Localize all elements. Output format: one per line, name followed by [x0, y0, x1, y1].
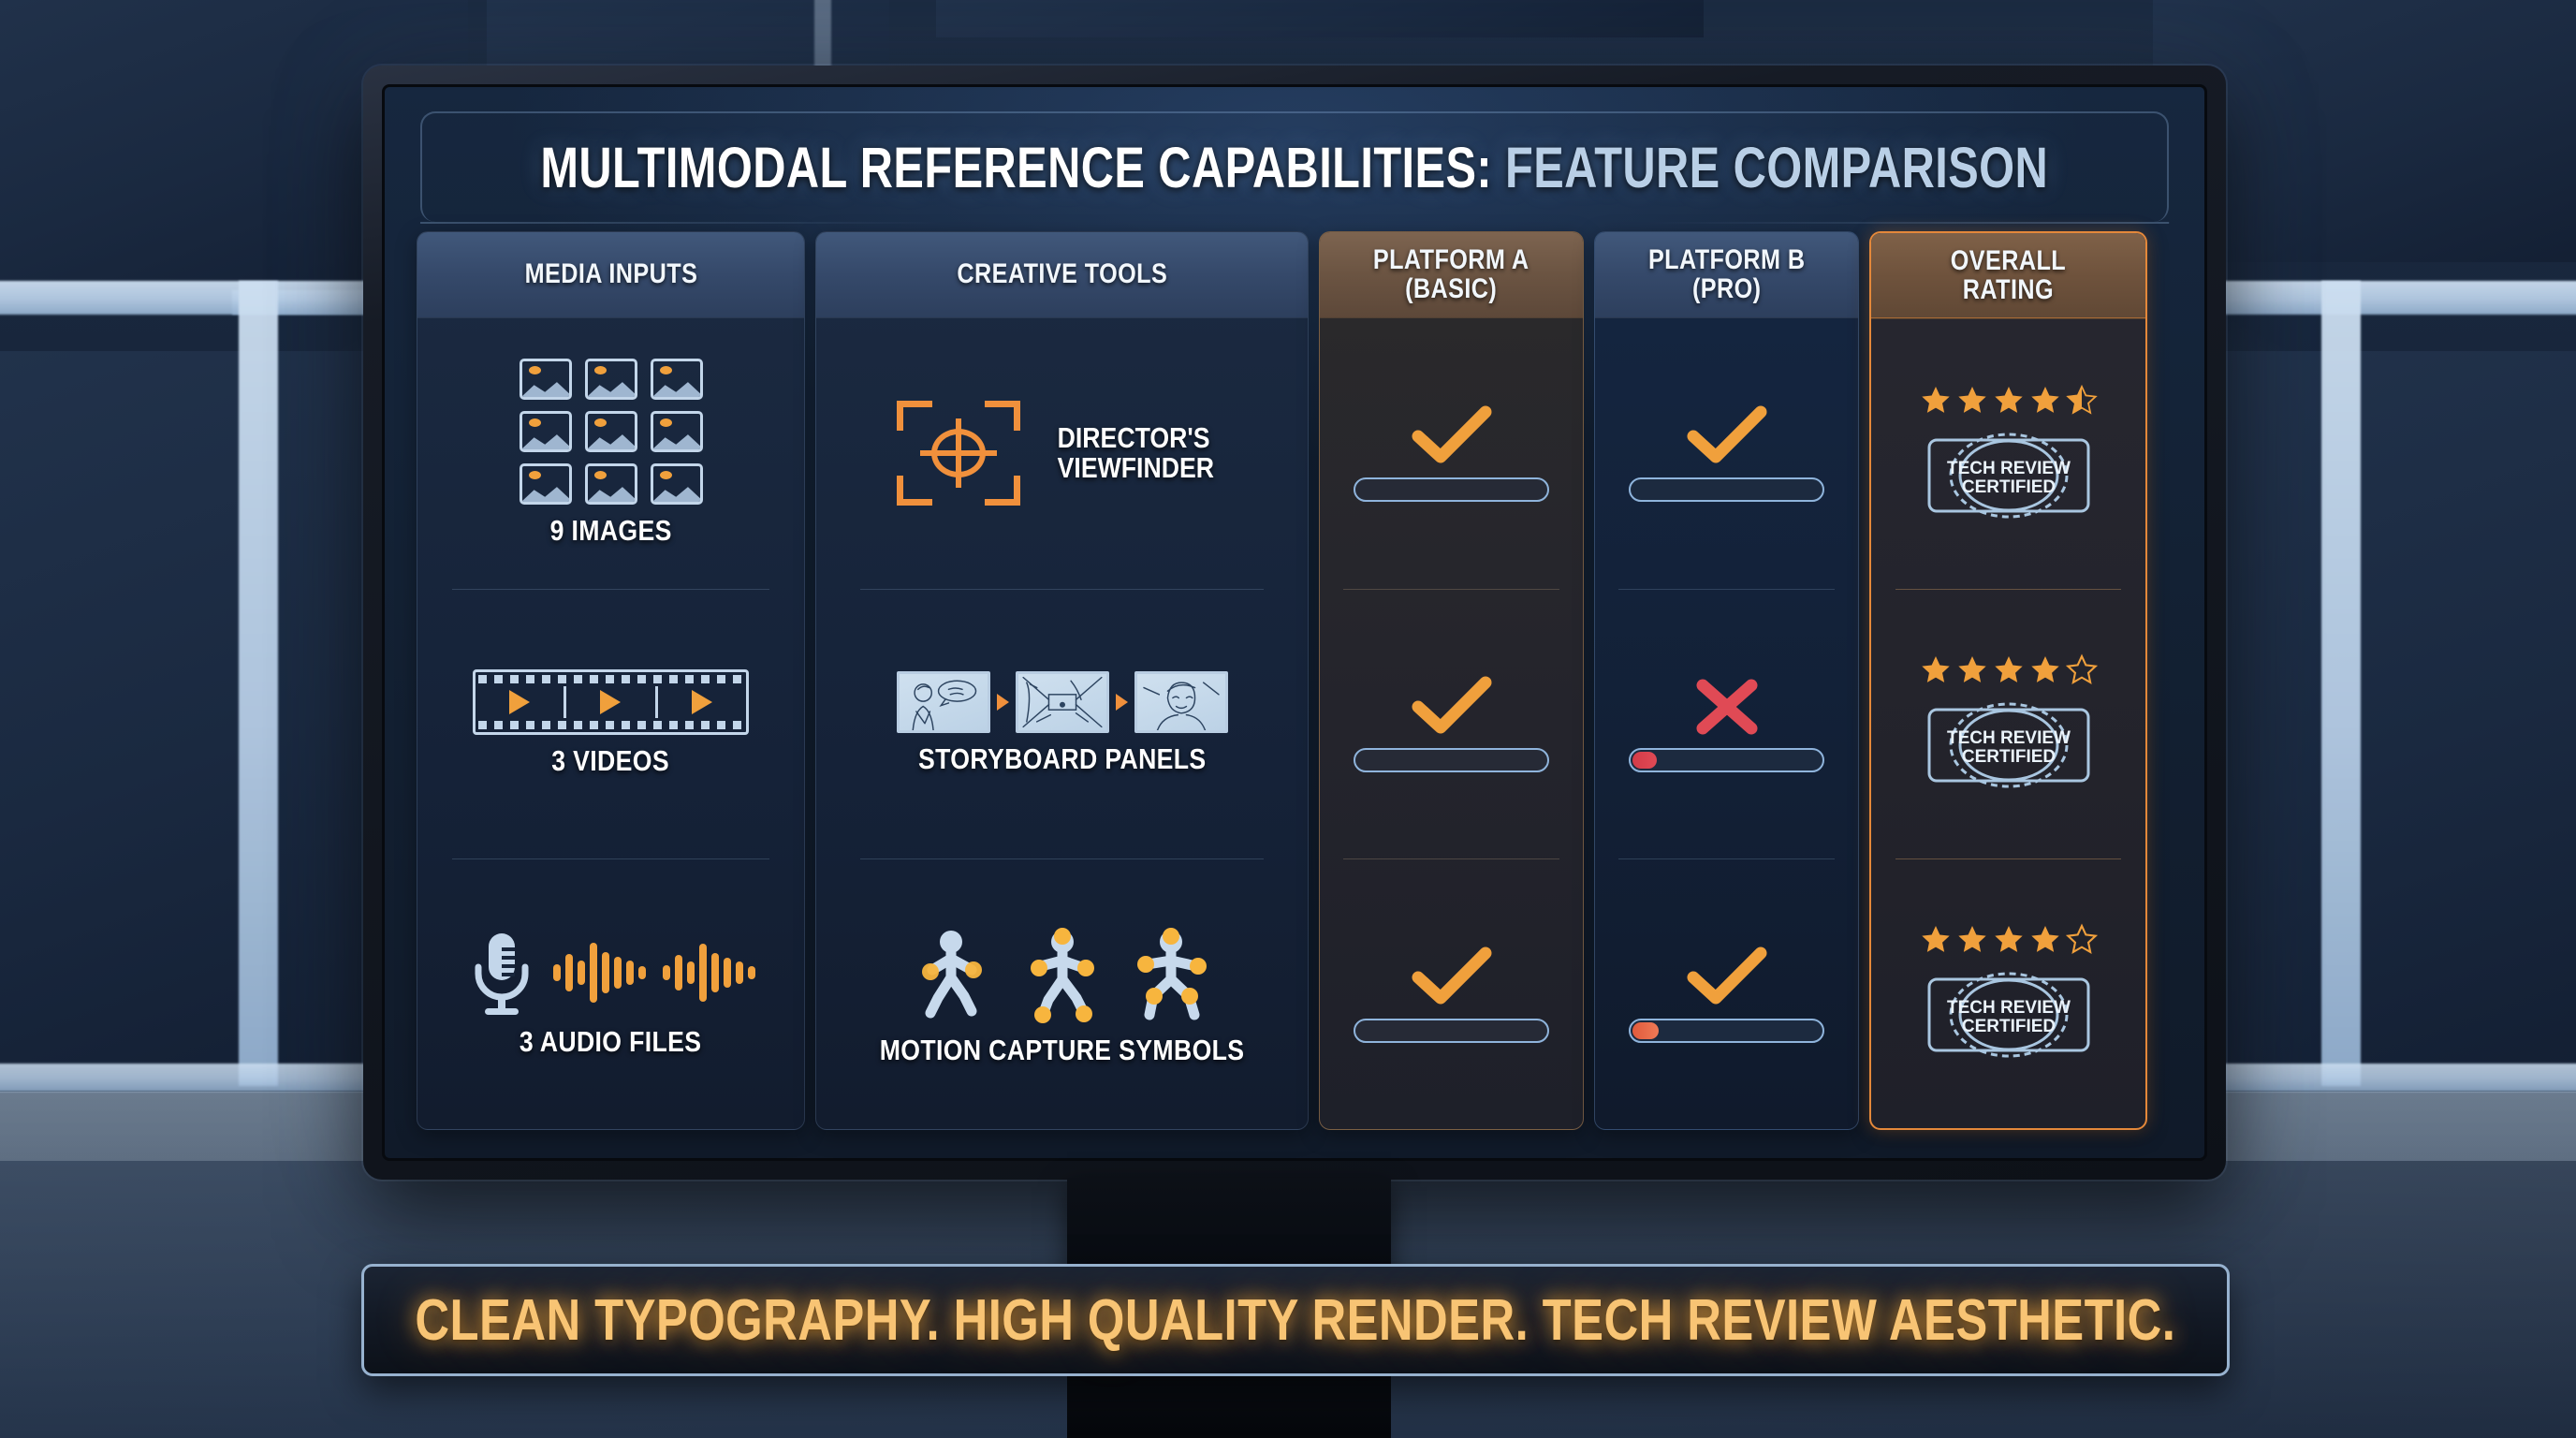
column-header-label: CREATIVE TOOLS [957, 260, 1167, 289]
progress-bar [1629, 748, 1824, 772]
column-body-overall-rating: TECH REVIEW CERTIFIED [1871, 319, 2145, 1128]
badge-line2: CERTIFIED [1961, 747, 2055, 767]
wall-seam-horizontal-rb [2181, 1064, 2576, 1092]
storyboard-panel-3 [1134, 671, 1228, 733]
cell-images: 9 IMAGES [417, 318, 804, 589]
column-media-inputs: MEDIA INPUTS [417, 231, 805, 1130]
column-header-label: MEDIA INPUTS [524, 260, 697, 289]
check-icon [1409, 946, 1495, 1009]
storyboard-panel-1 [897, 671, 990, 733]
cell-videos: 3 VIDEOS [417, 589, 804, 859]
page-title: MULTIMODAL REFERENCE CAPABILITIES: FEATU… [541, 135, 2049, 200]
check-icon [1409, 404, 1495, 468]
progress-fill [1357, 752, 1499, 769]
column-header-overall-rating: OVERALL RATING [1871, 233, 2145, 319]
media-row-label: 3 VIDEOS [552, 744, 670, 778]
star-icon-full [2028, 653, 2062, 687]
cell-motion-capture: MOTION CAPTURE SYMBOLS [816, 858, 1308, 1129]
tagline-banner: CLEAN TYPOGRAPHY. HIGH QUALITY RENDER. T… [361, 1264, 2230, 1376]
tool-row-label: MOTION CAPTURE SYMBOLS [880, 1034, 1245, 1067]
column-header-label: PLATFORM B (PRO) [1648, 246, 1806, 303]
star-icon-full [1955, 653, 1989, 687]
star-icon-full [1992, 384, 2026, 418]
media-row-label: 9 IMAGES [549, 514, 671, 548]
star-icon-full [1992, 653, 2026, 687]
badge-line2: CERTIFIED [1961, 1017, 2055, 1036]
wall-seam-vertical-rmid [2321, 281, 2361, 1086]
waveform-icon-1 [553, 939, 646, 1006]
progress-bar [1354, 477, 1549, 502]
star-icon-full [1992, 923, 2026, 957]
image-grid-icon [520, 359, 703, 505]
badge-line1: TECH REVIEW [1947, 459, 2071, 478]
column-platform-a: PLATFORM A (BASIC) [1319, 231, 1584, 1130]
progress-bar [1629, 1019, 1824, 1043]
mocap-figure-3 [1120, 921, 1222, 1024]
cell-platform-a-2 [1320, 589, 1583, 859]
star-icon-empty [2065, 923, 2099, 957]
column-header-platform-b: PLATFORM B (PRO) [1595, 232, 1858, 318]
cell-platform-a-1 [1320, 318, 1583, 589]
mocap-figure-2 [1011, 921, 1114, 1024]
check-icon [1409, 675, 1495, 739]
viewfinder-icon [897, 401, 1020, 506]
cell-audio: 3 AUDIO FILES [417, 858, 804, 1129]
studio-scene: MULTIMODAL REFERENCE CAPABILITIES: FEATU… [0, 0, 2576, 1438]
monitor-screen: MULTIMODAL REFERENCE CAPABILITIES: FEATU… [382, 84, 2207, 1161]
star-rating [1919, 384, 2099, 418]
motion-capture-icon [902, 921, 1222, 1024]
badge-line2: CERTIFIED [1961, 477, 2055, 497]
mocap-figure-1 [902, 921, 1005, 1024]
cell-rating-1: TECH REVIEW CERTIFIED [1871, 319, 2145, 589]
star-rating [1919, 653, 2099, 687]
cell-rating-2: TECH REVIEW CERTIFIED [1871, 589, 2145, 858]
microphone-icon [467, 930, 536, 1016]
check-icon [1684, 946, 1770, 1009]
wall-panel-l [0, 351, 421, 1063]
star-icon-half [2065, 384, 2099, 418]
star-icon-full [1919, 923, 1953, 957]
badge-line1: TECH REVIEW [1947, 998, 2071, 1018]
monitor-stand-base [1067, 1376, 1391, 1438]
star-icon-full [2028, 384, 2062, 418]
tagline-text: CLEAN TYPOGRAPHY. HIGH QUALITY RENDER. T… [416, 1287, 2176, 1354]
wall-panel-t2 [936, 0, 1704, 37]
certified-badge-icon: TECH REVIEW CERTIFIED [1924, 697, 2094, 794]
cell-platform-b-2 [1595, 589, 1858, 859]
cell-rating-3: TECH REVIEW CERTIFIED [1871, 858, 2145, 1128]
cell-platform-b-3 [1595, 858, 1858, 1129]
column-creative-tools: CREATIVE TOOLS DIRECTOR'S VIEWFINDER [815, 231, 1309, 1130]
wall-seam-horizontal-r [2181, 281, 2576, 315]
column-body-creative-tools: DIRECTOR'S VIEWFINDER [816, 318, 1308, 1129]
column-header-platform-a: PLATFORM A (BASIC) [1320, 232, 1583, 318]
storyboard-arrow-1 [997, 694, 1009, 711]
waveform-icon-2 [663, 939, 755, 1006]
check-icon [1684, 404, 1770, 468]
column-body-platform-b [1595, 318, 1858, 1129]
star-rating [1919, 923, 2099, 957]
progress-fill [1632, 481, 1787, 498]
page-title-sub: FEATURE COMPARISON [1505, 136, 2048, 199]
title-frame: MULTIMODAL REFERENCE CAPABILITIES: FEATU… [420, 111, 2169, 222]
viewfinder-row: DIRECTOR'S VIEWFINDER [897, 401, 1227, 506]
tool-row-label: DIRECTOR'S VIEWFINDER [1058, 423, 1214, 484]
film-strip-icon [473, 669, 749, 735]
wall-seam-horizontal-l [0, 281, 421, 315]
progress-fill [1357, 481, 1374, 498]
star-icon-full [2028, 923, 2062, 957]
media-row-label: 3 AUDIO FILES [520, 1025, 702, 1059]
column-header-label: OVERALL RATING [1951, 247, 2066, 304]
column-body-platform-a [1320, 318, 1583, 1129]
star-icon-full [1955, 923, 1989, 957]
column-header-label: PLATFORM A (BASIC) [1373, 246, 1529, 303]
wall-seam-vertical-lmid [239, 281, 278, 1086]
cell-platform-a-3 [1320, 858, 1583, 1129]
cross-icon [1684, 675, 1770, 739]
progress-fill [1357, 1022, 1499, 1039]
monitor-bezel: MULTIMODAL REFERENCE CAPABILITIES: FEATU… [363, 66, 2226, 1180]
progress-fill [1632, 752, 1657, 769]
star-icon-full [1919, 384, 1953, 418]
certified-badge-icon: TECH REVIEW CERTIFIED [1924, 966, 2094, 1064]
storyboard-panels-icon [897, 671, 1228, 733]
wall-panel-r [2181, 351, 2576, 1063]
comparison-table: MEDIA INPUTS [409, 231, 2180, 1134]
badge-line1: TECH REVIEW [1947, 728, 2071, 748]
progress-fill [1632, 1022, 1659, 1039]
storyboard-arrow-2 [1116, 694, 1128, 711]
star-icon-empty [2065, 653, 2099, 687]
cell-platform-b-1 [1595, 318, 1858, 589]
microphone-waveform-icon [467, 930, 755, 1016]
progress-bar [1354, 1019, 1549, 1043]
tool-row-label: STORYBOARD PANELS [918, 742, 1207, 776]
storyboard-panel-2 [1016, 671, 1109, 733]
star-icon-full [1955, 384, 1989, 418]
star-icon-full [1919, 653, 1953, 687]
column-overall-rating: OVERALL RATING [1869, 231, 2147, 1130]
cell-storyboard: STORYBOARD PANELS [816, 589, 1308, 859]
progress-bar [1354, 748, 1549, 772]
cell-viewfinder: DIRECTOR'S VIEWFINDER [816, 318, 1308, 589]
page-title-main: MULTIMODAL REFERENCE CAPABILITIES: [541, 136, 1493, 199]
column-platform-b: PLATFORM B (PRO) [1594, 231, 1859, 1130]
certified-badge-icon: TECH REVIEW CERTIFIED [1924, 427, 2094, 524]
column-header-creative-tools: CREATIVE TOOLS [816, 232, 1308, 318]
column-body-media-inputs: 9 IMAGES 3 VIDEOS [417, 318, 804, 1129]
column-header-media-inputs: MEDIA INPUTS [417, 232, 804, 318]
progress-bar [1629, 477, 1824, 502]
